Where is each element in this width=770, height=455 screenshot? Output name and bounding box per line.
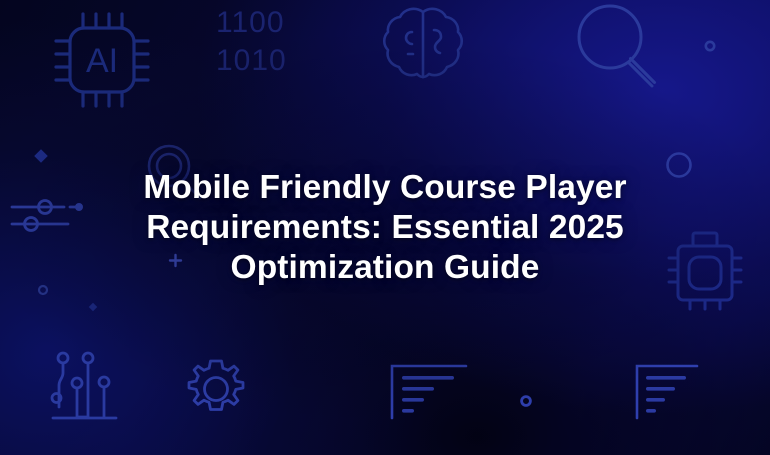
ai-chip-label: AI: [86, 42, 118, 80]
page-title-line-3: Optimization Guide: [0, 248, 770, 288]
ai-chip-icon: AI: [48, 6, 156, 114]
binary-line-2: 1010: [216, 42, 287, 80]
diamond-icon: [33, 148, 49, 164]
page-title-line-1: Mobile Friendly Course Player: [0, 168, 770, 208]
binary-text: 1100 1010: [216, 4, 287, 80]
brain-icon: [382, 4, 464, 90]
page-title-line-2: Requirements: Essential 2025: [0, 208, 770, 248]
magnifier-icon: [572, 2, 666, 98]
document-lines-icon: [635, 362, 703, 420]
page-title: Mobile Friendly Course Player Requiremen…: [0, 168, 770, 288]
ring-dot-icon: [702, 38, 718, 54]
small-ring-icon: [518, 393, 534, 409]
gear-icon: [185, 358, 247, 420]
hero-banner: AI 1100 1010: [0, 0, 770, 455]
document-lines-icon: [390, 362, 470, 420]
circuit-nodes-icon: [52, 350, 130, 426]
binary-line-1: 1100: [216, 4, 287, 42]
small-diamond-icon: [88, 302, 98, 312]
